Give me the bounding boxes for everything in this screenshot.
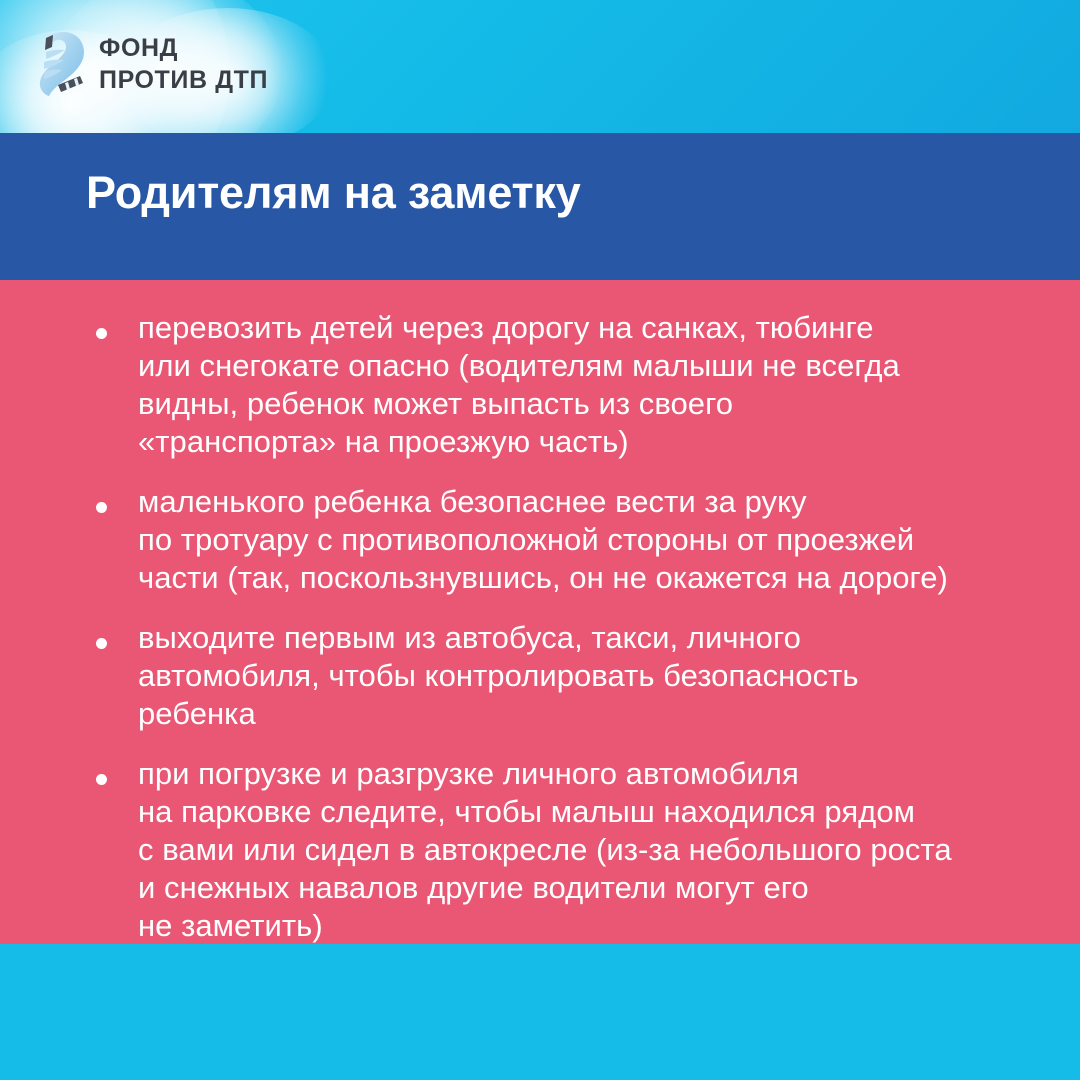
list-item: выходите первым из автобуса, такси, личн… (86, 619, 1026, 733)
list-item: при погрузке и разгрузке личного автомоб… (86, 755, 1026, 945)
footer-band (0, 944, 1080, 1080)
logo-block: ФОНД ПРОТИВ ДТП (32, 28, 268, 100)
bullet-dot-icon (96, 638, 107, 649)
bullet-text: при погрузке и разгрузке личного автомоб… (138, 756, 952, 943)
list-item: перевозить детей через дорогу на санках,… (86, 309, 1026, 461)
header-band: ФОНД ПРОТИВ ДТП (0, 0, 1080, 133)
logo-wordmark: ФОНД ПРОТИВ ДТП (99, 36, 268, 93)
bullet-list: перевозить детей через дорогу на санках,… (86, 309, 1026, 945)
bullet-dot-icon (96, 774, 107, 785)
bullet-dot-icon (96, 328, 107, 339)
bullet-text: выходите первым из автобуса, такси, личн… (138, 620, 859, 731)
bullet-text: перевозить детей через дорогу на санках,… (138, 310, 900, 459)
infographic-card: ФОНД ПРОТИВ ДТП Родителям на заметку пер… (0, 0, 1080, 1080)
logo-line-protiv-dtp: ПРОТИВ ДТП (99, 68, 268, 93)
bullet-text: маленького ребенка безопаснее вести за р… (138, 484, 948, 595)
list-item: маленького ребенка безопаснее вести за р… (86, 483, 1026, 597)
content-band: перевозить детей через дорогу на санках,… (0, 280, 1080, 944)
bullet-dot-icon (96, 502, 107, 513)
logo-line-fond: ФОНД (99, 36, 268, 61)
page-title: Родителям на заметку (86, 167, 581, 219)
ribbon-logo-icon (32, 28, 88, 100)
title-band: Родителям на заметку (0, 133, 1080, 280)
